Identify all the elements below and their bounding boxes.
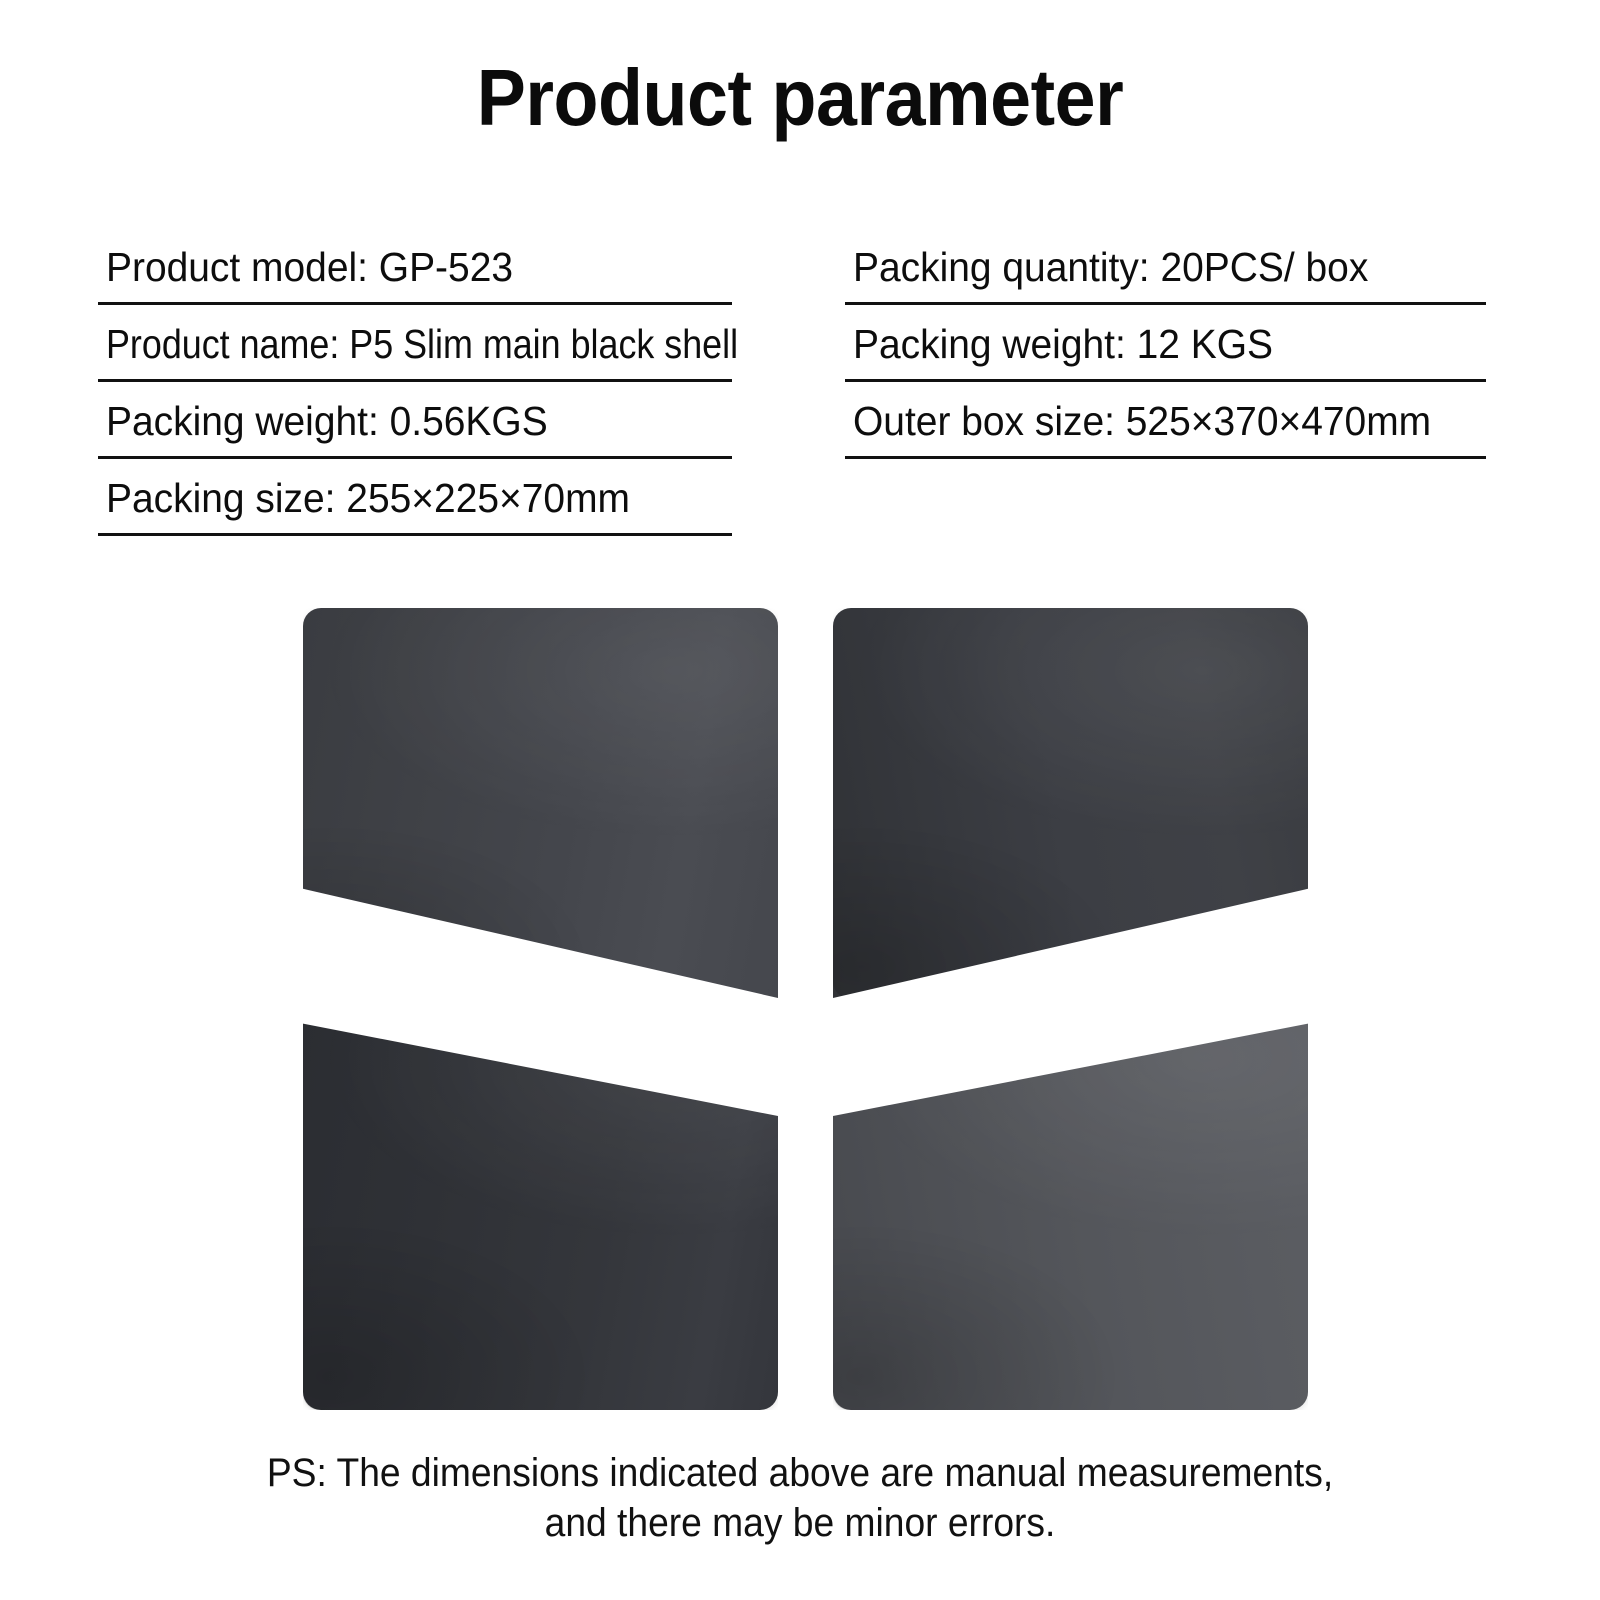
surface-sheen: [833, 990, 1308, 1410]
spec-row-packing-quantity: Packing quantity: 20PCS/ box: [845, 228, 1486, 305]
spec-text-packing-size: Packing size: 255×225×70mm: [106, 474, 630, 522]
spec-rule: [98, 533, 732, 536]
spec-column-left: Product model: GP-523 Product name: P5 S…: [98, 228, 732, 536]
spec-text-packing-quantity: Packing quantity: 20PCS/ box: [853, 243, 1368, 291]
spec-text-product-model: Product model: GP-523: [106, 243, 513, 291]
right-faceplate: [833, 608, 1308, 1410]
right-faceplate-lower-section: [833, 990, 1308, 1410]
spec-row-packing-size: Packing size: 255×225×70mm: [98, 459, 732, 536]
spec-row-outer-box-size: Outer box size: 525×370×470mm: [845, 382, 1486, 459]
left-faceplate-lower-surface: [303, 990, 778, 1410]
left-faceplate-upper-surface: [303, 608, 778, 998]
spec-text-product-name: Product name: P5 Slim main black shell: [106, 320, 738, 368]
spec-text-outer-box-size: Outer box size: 525×370×470mm: [853, 397, 1431, 445]
spec-row-packing-weight-carton: Packing weight: 12 KGS: [845, 305, 1486, 382]
spec-rule: [845, 456, 1486, 459]
spec-row-packing-weight-unit: Packing weight: 0.56KGS: [98, 382, 732, 459]
left-faceplate-lower-section: [303, 990, 778, 1410]
left-faceplate: [303, 608, 778, 1410]
product-parameter-page: Product parameter Product model: GP-523 …: [0, 0, 1600, 1600]
right-faceplate-upper-section: [833, 608, 1308, 998]
surface-sheen: [833, 608, 1308, 998]
page-title: Product parameter: [64, 52, 1536, 144]
spec-text-packing-weight-carton: Packing weight: 12 KGS: [853, 320, 1273, 368]
right-faceplate-lower-surface: [833, 990, 1308, 1410]
spec-row-product-model: Product model: GP-523: [98, 228, 732, 305]
product-image: [0, 600, 1600, 1420]
spec-column-right: Packing quantity: 20PCS/ box Packing wei…: [845, 228, 1486, 459]
surface-sheen: [303, 990, 778, 1410]
spec-row-product-name: Product name: P5 Slim main black shell: [98, 305, 732, 382]
spec-text-packing-weight-unit: Packing weight: 0.56KGS: [106, 397, 548, 445]
surface-sheen: [303, 608, 778, 998]
footnote-line-1: PS: The dimensions indicated above are m…: [56, 1448, 1544, 1498]
footnote: PS: The dimensions indicated above are m…: [56, 1448, 1544, 1548]
specification-table: Product model: GP-523 Product name: P5 S…: [0, 228, 1600, 548]
footnote-line-2: and there may be minor errors.: [56, 1498, 1544, 1548]
right-faceplate-upper-surface: [833, 608, 1308, 998]
left-faceplate-upper-section: [303, 608, 778, 998]
